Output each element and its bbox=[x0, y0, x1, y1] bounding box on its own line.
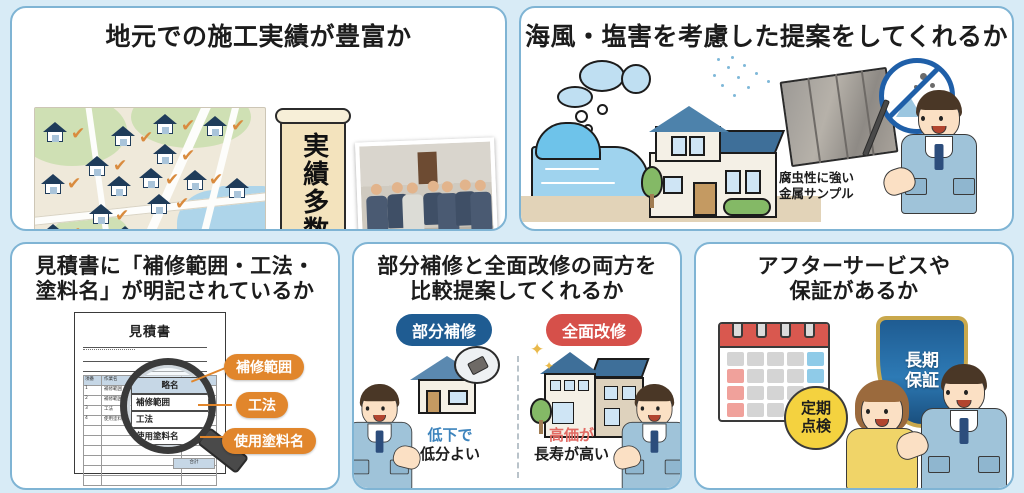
magnifying-glass-icon: 略名 補修範囲 工法 使用塗料名 bbox=[120, 358, 216, 454]
wind-icon bbox=[579, 60, 625, 92]
panel-after-service-title: アフターサービスや 保証があるか bbox=[696, 244, 1012, 304]
pill-full-renovation: 全面改修 bbox=[546, 314, 642, 346]
metal-sample-caption: 腐虫性に強い 金属サンプル bbox=[779, 170, 854, 204]
panel-compare-proposal: 部分補修と全面改修の両方を 比較提案してくれるか 部分補修 全面改修 bbox=[352, 242, 682, 490]
brush-callout-icon bbox=[454, 346, 500, 384]
sparkle-icon: ✦ bbox=[530, 342, 544, 359]
worker-presenting-icon-left bbox=[352, 384, 419, 473]
bottom-row: 見積書に「補修範囲・工法・ 塗料名」が明記されているか 見積書 項番 作業名 bbox=[10, 242, 1014, 490]
panel-estimate-title: 見積書に「補修範囲・工法・ 塗料名」が明記されているか bbox=[12, 244, 338, 304]
panel-estimate-document: 見積書に「補修範囲・工法・ 塗料名」が明記されているか 見積書 項番 作業名 bbox=[10, 242, 340, 490]
after-service-stage: 定期 点検 長期 保証 bbox=[696, 312, 1012, 488]
achievements-scroll: 実績多数 bbox=[280, 116, 346, 232]
house-icon bbox=[649, 106, 777, 218]
compare-left-highlight: 低下で bbox=[428, 426, 473, 444]
panel-compare-title: 部分補修と全面改修の両方を 比較提案してくれるか bbox=[354, 244, 680, 304]
panel-local-track-record: 地元での施工実績が豊富か ✔ ✔ bbox=[10, 6, 507, 231]
estimate-total-cell: 合計 bbox=[173, 458, 215, 469]
sea-stage: 腐虫性に強い 金属サンプル bbox=[521, 52, 1012, 222]
tag-repair-scope: 補修範囲 bbox=[224, 354, 304, 380]
scroll-text: 実績多数 bbox=[299, 132, 326, 232]
panel-sea-breeze: 海風・塩害を考慮した提案をしてくれるか bbox=[519, 6, 1014, 231]
top-row: 地元での施工実績が豊富か ✔ ✔ bbox=[10, 6, 1014, 231]
compare-text-left: 低下で 低分よい bbox=[420, 426, 480, 465]
wind-icon bbox=[621, 64, 651, 94]
tag-paint-name: 使用塗料名 bbox=[222, 428, 316, 454]
worker-presenting-icon-right bbox=[615, 384, 682, 473]
sparkle-icon: ✦ bbox=[544, 360, 554, 372]
panel-local-title: 地元での施工実績が豊富か bbox=[12, 8, 505, 52]
worker-presenting-icon bbox=[912, 364, 1014, 490]
compare-text-right: 高価が 長寿が高い bbox=[534, 426, 609, 465]
panel-after-service: アフターサービスや 保証があるか bbox=[694, 242, 1014, 490]
infographic-board: 地元での施工実績が豊富か ✔ ✔ bbox=[0, 0, 1024, 493]
local-stage: ✔ ✔ ✔ ✔ ✔ ✔ ✔ ✔ ✔ bbox=[12, 52, 505, 222]
compare-right-highlight: 高価が bbox=[549, 426, 594, 444]
tag-method: 工法 bbox=[236, 392, 288, 418]
table-row bbox=[83, 476, 217, 486]
pill-partial-repair: 部分補修 bbox=[396, 314, 492, 346]
team-photo bbox=[355, 137, 498, 231]
estimate-stage: 見積書 項番 作業名 1 bbox=[12, 312, 338, 488]
map-icon: ✔ ✔ ✔ ✔ ✔ ✔ ✔ ✔ ✔ bbox=[34, 107, 266, 232]
worker-pointing-icon bbox=[889, 90, 989, 222]
compare-divider bbox=[517, 356, 519, 478]
wind-icon bbox=[557, 86, 593, 108]
panel-sea-title: 海風・塩害を考慮した提案をしてくれるか bbox=[521, 8, 1012, 52]
compare-stage: 部分補修 全面改修 bbox=[354, 310, 680, 486]
